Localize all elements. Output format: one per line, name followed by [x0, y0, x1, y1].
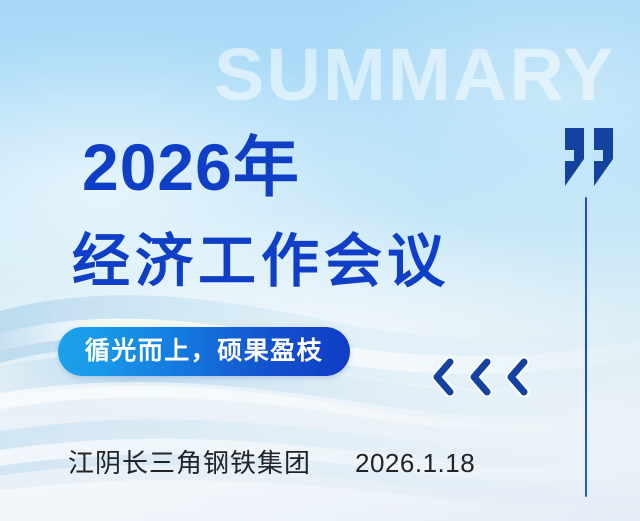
vertical-divider — [585, 197, 587, 497]
slogan-pill[interactable]: 循光而上，硕果盈枝 — [58, 327, 350, 376]
chevron-left-icon — [502, 357, 532, 397]
chevron-group — [428, 357, 532, 397]
page-title-year: 2026年 — [82, 134, 300, 200]
slogan-pill-label: 循光而上，硕果盈枝 — [85, 339, 324, 364]
quote-close-icon — [563, 126, 617, 188]
presentation-slide: SUMMARY 2026年 经济工作会议 循光而上，硕果盈枝 江阴长三角钢铁集团… — [0, 0, 640, 521]
chevron-left-icon — [465, 357, 495, 397]
summary-watermark: SUMMARY — [214, 38, 615, 112]
page-title-main: 经济工作会议 — [72, 233, 450, 291]
chevron-left-icon — [428, 357, 458, 397]
footer-date: 2026.1.18 — [355, 448, 475, 479]
footer-organization: 江阴长三角钢铁集团 — [68, 448, 311, 479]
slide-footer: 江阴长三角钢铁集团 2026.1.18 — [68, 448, 475, 479]
